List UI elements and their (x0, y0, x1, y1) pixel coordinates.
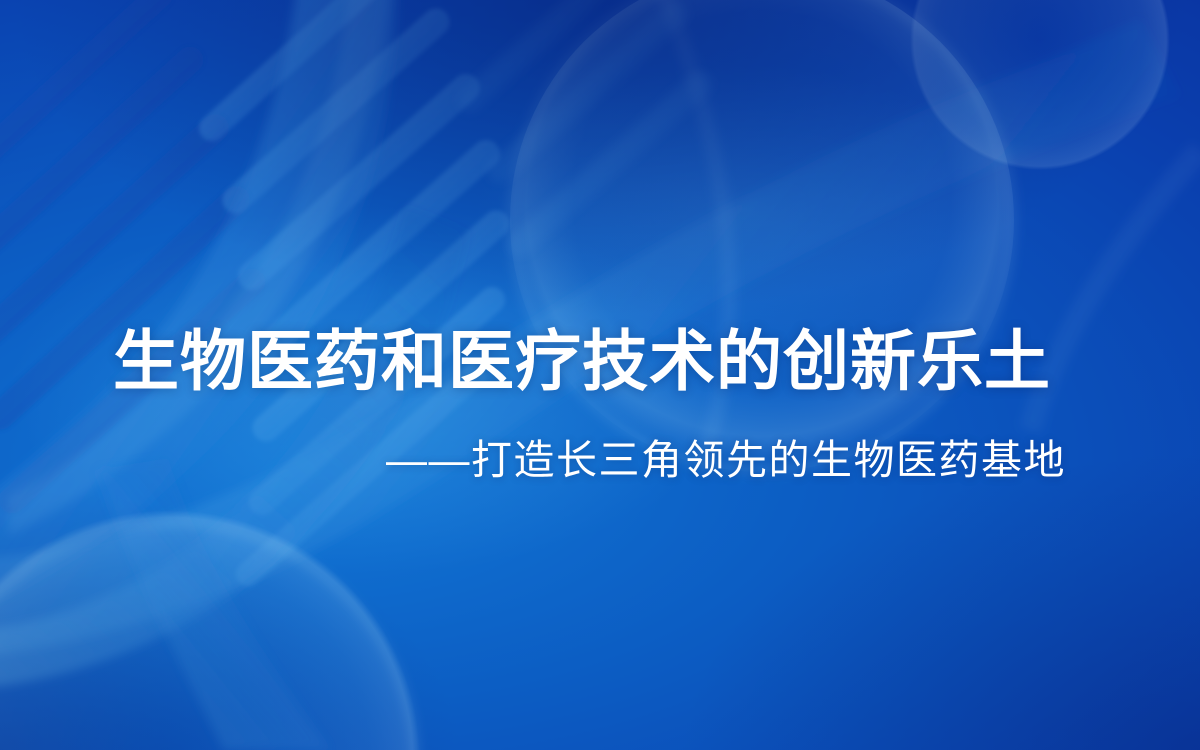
promo-banner: 生物医药和医疗技术的创新乐土 ——打造长三角领先的生物医药基地 (0, 0, 1200, 750)
banner-text-block: 生物医药和医疗技术的创新乐土 ——打造长三角领先的生物医药基地 (0, 0, 1200, 750)
banner-main-title: 生物医药和医疗技术的创新乐土 (113, 328, 1051, 394)
banner-subtitle: ——打造长三角领先的生物医药基地 (386, 437, 1066, 484)
